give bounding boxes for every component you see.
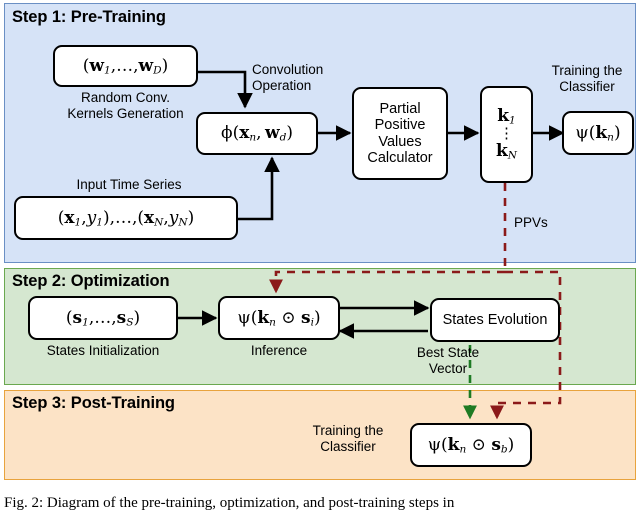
step3-title: Step 3: Post-Training: [12, 394, 175, 413]
best-state-vector-label: Best State Vector: [383, 345, 513, 377]
convolution-label: ϕ(xn, wd): [221, 123, 293, 143]
post-training-classifier-box[interactable]: ψ(kn ⊙ sb): [410, 423, 532, 467]
convolution-operation-line1: Convolution: [252, 62, 367, 78]
ppv-calculator-label: Partial Positive Values Calculator: [367, 101, 432, 166]
training-classifier-caption-step3: Training the Classifier: [293, 423, 403, 455]
step2-title: Step 2: Optimization: [12, 272, 170, 291]
classifier-psi-label: ψ(kn): [575, 123, 620, 143]
inference-label: ψ(kn ⊙ si): [237, 308, 320, 328]
vertical-ellipsis-icon: ⋮: [499, 127, 514, 141]
random-conv-kernels-label: (w1,…,wD): [83, 56, 169, 76]
states-evolution-label: States Evolution: [443, 312, 548, 328]
states-init-box[interactable]: (s1,…,sS): [28, 296, 178, 340]
ppv-line1: Partial: [367, 101, 432, 117]
ppvs-label: PPVs: [514, 215, 574, 231]
best-state-line1: Best State: [383, 345, 513, 361]
step1-title: Step 1: Pre-Training: [12, 8, 166, 27]
convolution-operation-line2: Operation: [252, 78, 367, 94]
post-training-classifier-line2: Classifier: [293, 439, 403, 455]
figure-caption: Fig. 2: Diagram of the pre-training, opt…: [4, 495, 454, 512]
post-training-classifier-label: ψ(kn ⊙ sb): [428, 435, 515, 455]
figure-root: Step 1: Pre-Training Step 2: Optimizatio…: [0, 0, 640, 511]
convolution-operation-label: Convolution Operation: [252, 62, 367, 94]
random-conv-caption-line2: Kernels Generation: [53, 106, 198, 122]
input-time-series-box[interactable]: (x1,y1),…,(xN,yN): [14, 196, 238, 240]
ppv-line2: Positive: [367, 117, 432, 133]
ppv-calculator-box[interactable]: Partial Positive Values Calculator: [352, 87, 448, 180]
inference-caption: Inference: [218, 343, 340, 359]
training-classifier-step1-line1: Training the: [538, 63, 636, 79]
training-classifier-caption-step1: Training the Classifier: [538, 63, 636, 95]
states-init-caption: States Initialization: [28, 343, 178, 359]
convolution-box[interactable]: ϕ(xn, wd): [196, 112, 318, 155]
kernel-outputs-box[interactable]: k1 ⋮ kN: [480, 86, 533, 183]
states-evolution-box[interactable]: States Evolution: [430, 298, 560, 342]
input-time-series-label: (x1,y1),…,(xN,yN): [58, 208, 195, 228]
classifier-psi-box[interactable]: ψ(kn): [562, 111, 634, 155]
ppv-line4: Calculator: [367, 150, 432, 166]
inference-box[interactable]: ψ(kn ⊙ si): [218, 296, 340, 340]
ppv-line3: Values: [367, 134, 432, 150]
input-time-series-caption: Input Time Series: [20, 177, 238, 193]
post-training-classifier-line1: Training the: [293, 423, 403, 439]
best-state-line2: Vector: [383, 361, 513, 377]
training-classifier-step1-line2: Classifier: [538, 79, 636, 95]
random-conv-kernels-box[interactable]: (w1,…,wD): [53, 45, 198, 87]
kernel-output-last: kN: [496, 143, 517, 161]
states-init-label: (s1,…,sS): [66, 308, 140, 328]
random-conv-kernels-caption: Random Conv. Kernels Generation: [53, 90, 198, 122]
random-conv-caption-line1: Random Conv.: [53, 90, 198, 106]
